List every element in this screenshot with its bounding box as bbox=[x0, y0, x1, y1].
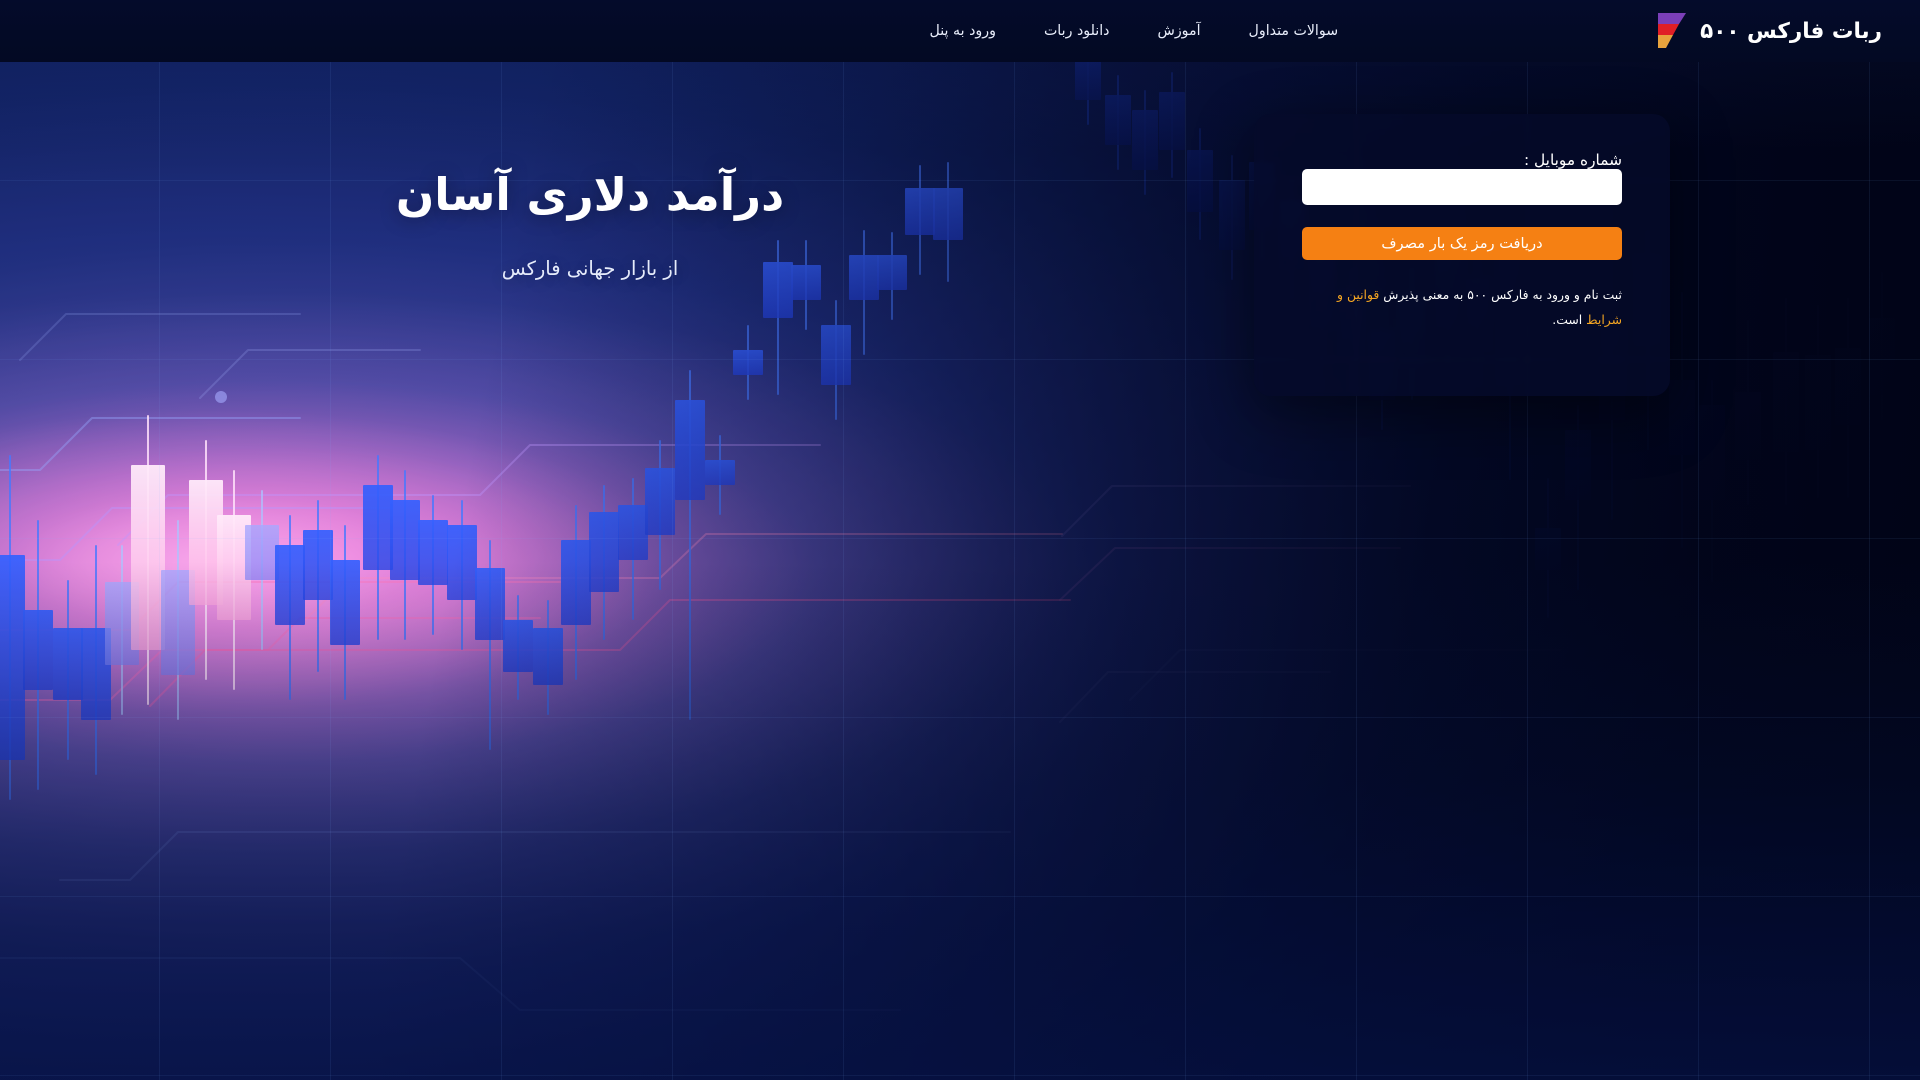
candle-body bbox=[1699, 405, 1725, 500]
candle-body bbox=[705, 460, 735, 485]
candle-wick bbox=[1747, 320, 1749, 505]
candle-body bbox=[1535, 528, 1561, 570]
candle-body bbox=[363, 485, 393, 570]
candle-wick bbox=[1144, 90, 1146, 195]
candle-wick bbox=[919, 165, 921, 275]
candle-body bbox=[1669, 380, 1695, 455]
candle bbox=[733, 325, 763, 400]
candle-body bbox=[1565, 430, 1591, 500]
candle-wick bbox=[747, 325, 749, 400]
candle-body bbox=[447, 525, 477, 600]
candle bbox=[447, 500, 477, 650]
candle-wick bbox=[67, 580, 69, 760]
candle-body bbox=[161, 570, 195, 675]
candle bbox=[705, 435, 735, 515]
candle bbox=[933, 162, 963, 282]
candle bbox=[161, 520, 195, 720]
candle bbox=[821, 300, 851, 420]
candle bbox=[877, 232, 907, 320]
nav-item-training[interactable]: آموزش bbox=[1134, 0, 1225, 62]
candle bbox=[1535, 478, 1561, 618]
candle bbox=[189, 440, 223, 680]
candle-body bbox=[105, 582, 139, 665]
candle-body bbox=[1805, 355, 1831, 450]
candle-wick bbox=[1577, 405, 1579, 590]
candle-wick bbox=[404, 470, 406, 640]
candle-body bbox=[791, 265, 821, 300]
candle-body bbox=[905, 188, 935, 235]
phone-input[interactable] bbox=[1302, 169, 1622, 205]
candle-body bbox=[675, 400, 705, 500]
candle bbox=[1219, 155, 1245, 280]
candle bbox=[390, 470, 420, 640]
candle-wick bbox=[1547, 478, 1549, 618]
candle bbox=[1159, 72, 1185, 178]
candle bbox=[53, 580, 83, 760]
candle-wick bbox=[344, 525, 346, 700]
candle-wick bbox=[689, 370, 691, 720]
candle-body bbox=[1132, 110, 1158, 170]
candle-body bbox=[53, 628, 83, 700]
candle-wick bbox=[233, 470, 235, 690]
candle-wick bbox=[947, 162, 949, 282]
candle-body bbox=[245, 525, 279, 580]
candle-wick bbox=[1117, 75, 1119, 170]
candle-body bbox=[821, 325, 851, 385]
request-otp-button[interactable]: دریافت رمز یک بار مصرف bbox=[1302, 227, 1622, 260]
candle-wick bbox=[517, 595, 519, 700]
candle bbox=[475, 540, 505, 750]
candle-wick bbox=[805, 240, 807, 330]
candle bbox=[1187, 128, 1213, 240]
candle bbox=[1735, 320, 1761, 505]
candle-wick bbox=[719, 435, 721, 515]
candle bbox=[618, 478, 648, 620]
candle-wick bbox=[777, 240, 779, 395]
candle-body bbox=[645, 468, 675, 535]
candle-body bbox=[1773, 352, 1799, 452]
candle-wick bbox=[891, 232, 893, 320]
candle bbox=[533, 600, 563, 715]
candle bbox=[330, 525, 360, 700]
candle-body bbox=[1159, 92, 1185, 150]
brand-name: ربات فارکس ۵۰۰ bbox=[1700, 19, 1882, 44]
candle-body bbox=[1835, 348, 1861, 425]
candle-body bbox=[877, 255, 907, 290]
candle-wick bbox=[547, 600, 549, 715]
main-navigation: سوالات متداولآموزشدانلود رباتورود به پنل bbox=[906, 0, 1363, 62]
candle-wick bbox=[603, 485, 605, 640]
candle-wick bbox=[1881, 272, 1883, 420]
candle bbox=[1805, 305, 1831, 498]
candle-body bbox=[1219, 180, 1245, 250]
candle-body bbox=[763, 262, 793, 318]
hero-subtitle: از بازار جهانی فارکس bbox=[0, 257, 1180, 280]
candle-wick bbox=[575, 505, 577, 680]
candle-body bbox=[589, 512, 619, 592]
terms-suffix: است. bbox=[1552, 312, 1586, 327]
candle bbox=[645, 440, 675, 590]
candle-wick bbox=[377, 455, 379, 640]
candle-body bbox=[533, 628, 563, 685]
candle bbox=[23, 520, 53, 790]
candle bbox=[245, 490, 279, 650]
nav-item-download-bot[interactable]: دانلود ربات bbox=[1020, 0, 1134, 62]
candle-body bbox=[330, 560, 360, 645]
candle-wick bbox=[1847, 298, 1849, 498]
candle-wick bbox=[489, 540, 491, 750]
terms-notice: ثبت نام و ورود به فارکس ۵۰۰ به معنی پذیر… bbox=[1302, 283, 1622, 333]
candle bbox=[675, 370, 705, 720]
candle bbox=[1132, 90, 1158, 195]
candle-wick bbox=[37, 520, 39, 790]
candle-body bbox=[81, 628, 111, 720]
candle bbox=[217, 470, 251, 690]
candle-body bbox=[849, 255, 879, 300]
candle-body bbox=[475, 568, 505, 640]
candle-body bbox=[390, 500, 420, 580]
candle bbox=[1669, 292, 1695, 548]
candle-body bbox=[131, 465, 165, 650]
candle-body bbox=[418, 520, 448, 585]
circuit-node-dot bbox=[215, 391, 227, 403]
candle bbox=[1105, 75, 1131, 170]
candle-wick bbox=[461, 500, 463, 650]
nav-item-login-panel[interactable]: ورود به پنل bbox=[906, 0, 1020, 62]
candle-wick bbox=[1785, 298, 1787, 505]
candle-body bbox=[303, 530, 333, 600]
candle-wick bbox=[261, 490, 263, 650]
candle-wick bbox=[1817, 305, 1819, 498]
candle bbox=[561, 505, 591, 680]
candle-body bbox=[1105, 95, 1131, 145]
phone-label: شماره موبایل : bbox=[1524, 151, 1622, 169]
candle-wick bbox=[205, 440, 207, 680]
candle-wick bbox=[1231, 155, 1233, 280]
candle-body bbox=[217, 515, 251, 620]
candle-body bbox=[1869, 318, 1895, 395]
candle bbox=[905, 165, 935, 275]
candle-body bbox=[275, 545, 305, 625]
candle-wick bbox=[147, 415, 149, 705]
candle bbox=[0, 455, 25, 800]
candle-wick bbox=[95, 545, 97, 775]
candle-body bbox=[1735, 392, 1761, 460]
terms-prefix: ثبت نام و ورود به فارکس ۵۰۰ به معنی پذیر… bbox=[1379, 287, 1622, 302]
candle bbox=[81, 545, 111, 775]
forex-f-logo-icon bbox=[1652, 11, 1688, 51]
candle-body bbox=[561, 540, 591, 625]
candle-wick bbox=[1711, 380, 1713, 582]
candle bbox=[105, 545, 139, 715]
candle-wick bbox=[289, 515, 291, 700]
candle-wick bbox=[632, 478, 634, 620]
candle bbox=[275, 515, 305, 700]
candle bbox=[131, 415, 165, 705]
candle bbox=[503, 595, 533, 700]
site-header: ربات فارکس ۵۰۰ سوالات متداولآموزشدانلود … bbox=[0, 0, 1920, 62]
page-root: ربات فارکس ۵۰۰ سوالات متداولآموزشدانلود … bbox=[0, 0, 1920, 1080]
candle-wick bbox=[317, 500, 319, 672]
page-title: درآمد دلاری آسان bbox=[0, 168, 1180, 223]
candle bbox=[418, 495, 448, 635]
candle-wick bbox=[1199, 128, 1201, 240]
candle bbox=[1699, 380, 1725, 582]
candle-wick bbox=[432, 495, 434, 635]
candle-body bbox=[1075, 58, 1101, 100]
candle-body bbox=[189, 480, 223, 605]
candle-body bbox=[1187, 150, 1213, 212]
candle-body bbox=[0, 555, 25, 760]
candle-body bbox=[933, 188, 963, 240]
nav-item-faq[interactable]: سوالات متداول bbox=[1225, 0, 1363, 62]
candle-wick bbox=[177, 520, 179, 720]
login-card: شماره موبایل : دریافت رمز یک بار مصرف ثب… bbox=[1254, 114, 1670, 396]
candle-body bbox=[503, 620, 533, 672]
candle bbox=[1773, 298, 1799, 505]
candle bbox=[1835, 298, 1861, 498]
candle bbox=[791, 240, 821, 330]
brand[interactable]: ربات فارکس ۵۰۰ bbox=[1652, 11, 1882, 51]
candle bbox=[1869, 272, 1895, 420]
candle bbox=[589, 485, 619, 640]
candle bbox=[763, 240, 793, 395]
candle-wick bbox=[9, 455, 11, 800]
candle-wick bbox=[1171, 72, 1173, 178]
candle bbox=[363, 455, 393, 640]
candle-body bbox=[618, 505, 648, 560]
candle bbox=[1565, 405, 1591, 590]
candle-body bbox=[23, 610, 53, 690]
candle-wick bbox=[835, 300, 837, 420]
candle-wick bbox=[863, 230, 865, 355]
candle-wick bbox=[1681, 292, 1683, 548]
candle bbox=[849, 230, 879, 355]
candle bbox=[303, 500, 333, 672]
candle-body bbox=[733, 350, 763, 375]
candle-wick bbox=[121, 545, 123, 715]
candle-wick bbox=[659, 440, 661, 590]
